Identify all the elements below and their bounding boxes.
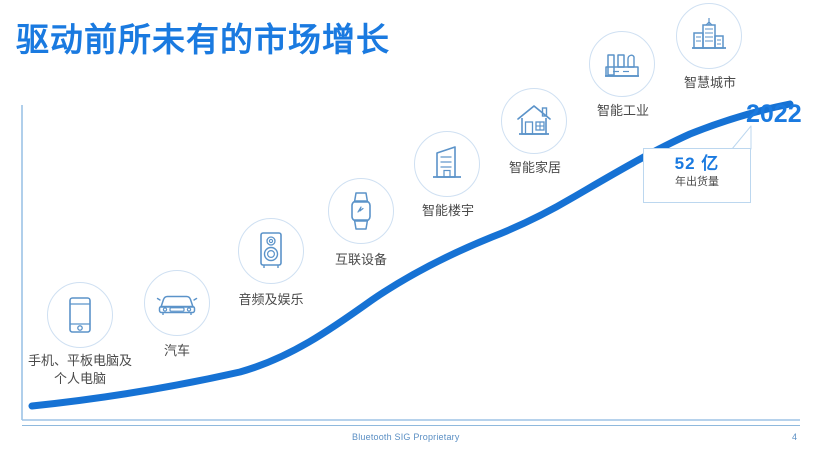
smartphone-icon <box>67 296 93 334</box>
bubble-smartcity <box>676 3 742 69</box>
category-label-smartcity-line1: 智慧城市 <box>654 74 766 92</box>
bubble-audio <box>238 218 304 284</box>
category-label-smartbuilding-line1: 智能楼宇 <box>392 202 504 220</box>
bubble-smartbuilding <box>414 131 480 197</box>
category-label-smartbuilding: 智能楼宇 <box>392 202 504 220</box>
footer-page-number: 4 <box>792 432 797 442</box>
category-label-smartcity: 智慧城市 <box>654 74 766 92</box>
category-label-phones-line2: 个人电脑 <box>0 370 160 388</box>
category-label-automotive-line1: 汽车 <box>127 342 227 360</box>
category-label-smartindustry: 智能工业 <box>567 102 679 120</box>
footer-note: Bluetooth SIG Proprietary <box>352 432 460 442</box>
year-label: 2022 <box>746 100 802 129</box>
house-icon <box>514 102 554 140</box>
office-building-icon <box>429 144 465 184</box>
city-skyline-icon <box>689 16 729 56</box>
category-label-connected: 互联设备 <box>303 251 419 269</box>
category-label-smarthome: 智能家居 <box>479 159 591 177</box>
bubble-automotive <box>144 270 210 336</box>
category-label-audio-line1: 音频及娱乐 <box>206 291 336 309</box>
page-title: 驱动前所未有的市场增长 <box>16 22 390 58</box>
bubble-connected <box>328 178 394 244</box>
bubble-phones <box>47 282 113 348</box>
car-icon <box>156 289 198 317</box>
callout-pointer <box>732 126 751 149</box>
smartwatch-icon <box>347 190 375 232</box>
category-label-connected-line1: 互联设备 <box>303 251 419 269</box>
callout-value: 52 亿 <box>644 155 750 174</box>
bubble-smarthome <box>501 88 567 154</box>
category-label-smartindustry-line1: 智能工业 <box>567 102 679 120</box>
category-label-automotive: 汽车 <box>127 342 227 360</box>
bubble-smartindustry <box>589 31 655 97</box>
slide-canvas: 驱动前所未有的市场增长 手机、平板电脑及 个人电脑 <box>0 0 817 454</box>
category-label-smarthome-line1: 智能家居 <box>479 159 591 177</box>
callout-subtitle: 年出货量 <box>644 175 750 189</box>
speaker-icon <box>256 231 286 271</box>
callout-box: 52 亿 年出货量 <box>643 148 751 203</box>
footer-divider <box>22 425 800 426</box>
category-label-audio: 音频及娱乐 <box>206 291 336 309</box>
factory-icon <box>602 45 642 83</box>
